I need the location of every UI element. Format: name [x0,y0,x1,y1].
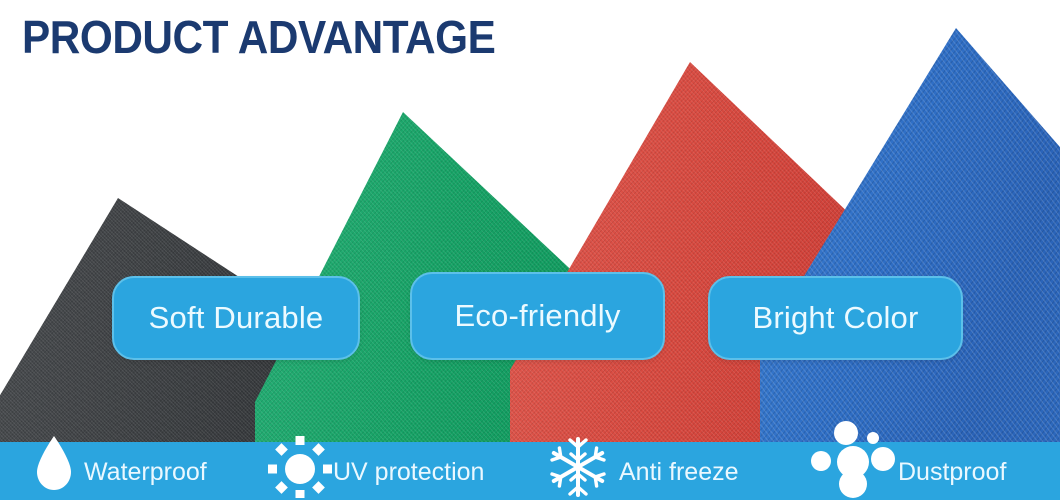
feature-label: UV protection [333,460,484,485]
feature-label: Anti freeze [619,460,739,485]
feature-label: Waterproof [84,460,207,485]
feature-item-waterproof: Waterproof [84,442,207,500]
advantage-pill-label: Eco-friendly [454,298,620,334]
feature-label: Dustproof [898,460,1006,485]
feature-item-uv-protection: UV protection [333,442,484,500]
advantage-pill-eco-friendly[interactable]: Eco-friendly [410,272,665,360]
page-title: PRODUCT ADVANTAGE [22,10,495,64]
feature-item-anti-freeze: Anti freeze [619,442,739,500]
feature-item-dustproof: Dustproof [898,442,1006,500]
product-advantage-banner: PRODUCT ADVANTAGE Soft Durable Eco-frien… [0,0,1060,500]
advantage-pill-label: Bright Color [752,300,918,336]
advantage-pill-bright-color[interactable]: Bright Color [708,276,963,360]
advantage-pill-label: Soft Durable [149,300,324,336]
advantage-pill-soft-durable[interactable]: Soft Durable [112,276,360,360]
